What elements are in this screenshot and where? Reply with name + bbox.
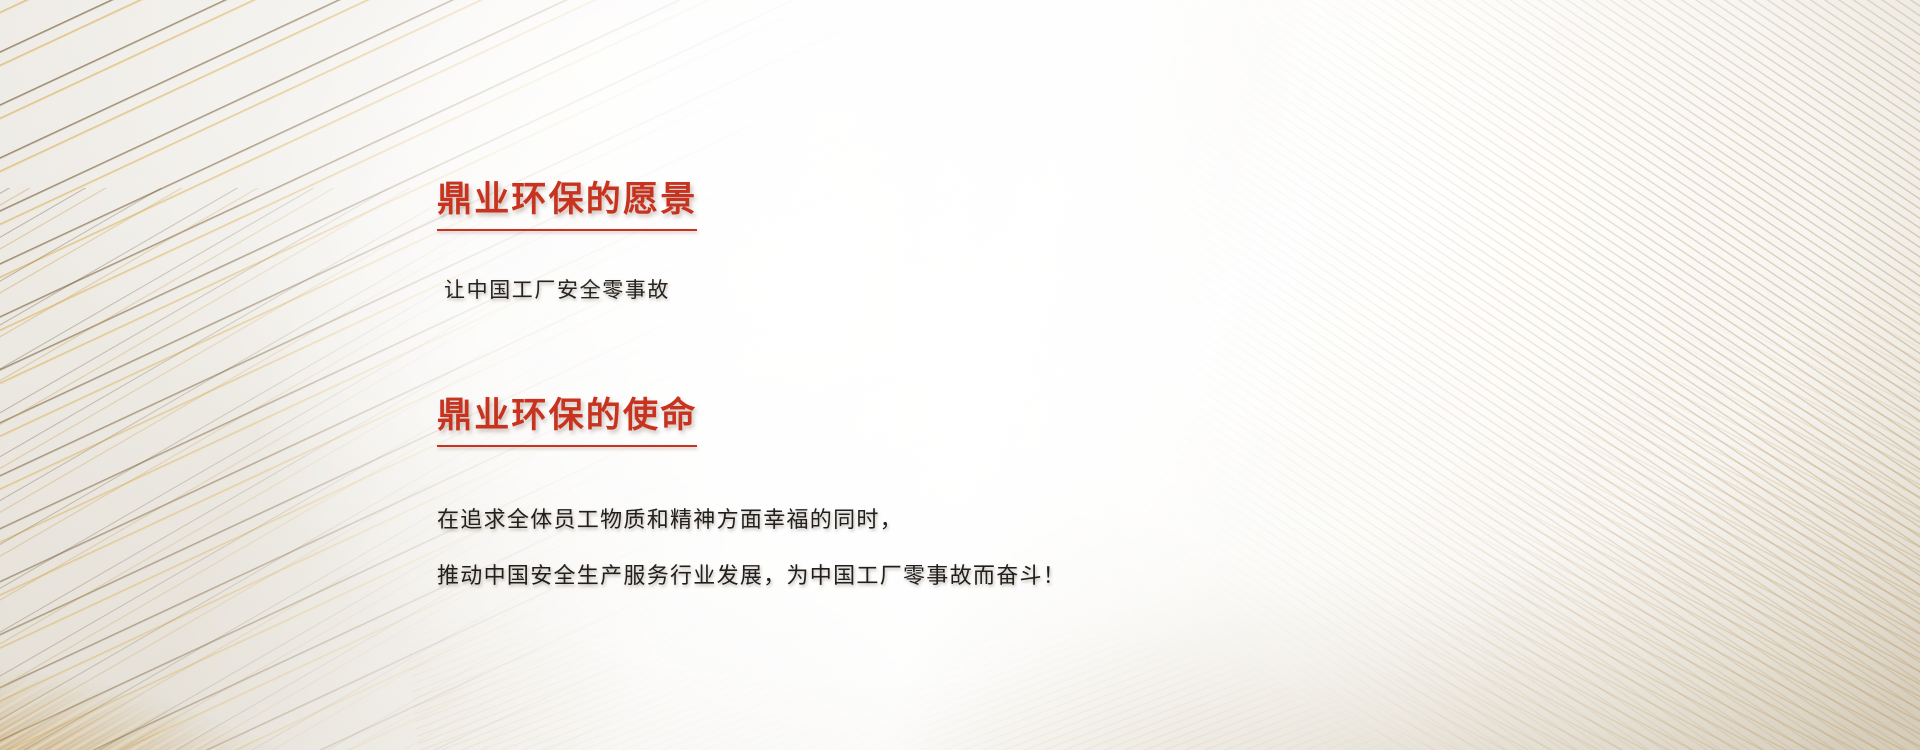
vision-heading: 鼎业环保的愿景 (437, 179, 697, 231)
mission-line: 推动中国安全生产服务行业发展，为中国工厂零事故而奋斗！ (437, 559, 1417, 593)
vision-subtitle: 让中国工厂安全零事故 (444, 275, 1417, 307)
mission-heading: 鼎业环保的使命 (437, 395, 697, 447)
vision-block: 鼎业环保的愿景 让中国工厂安全零事故 (437, 150, 1417, 306)
banner-content: 鼎业环保的愿景 让中国工厂安全零事故 鼎业环保的使命 在追求全体员工物质和精神方… (437, 150, 1417, 615)
mission-line: 在追求全体员工物质和精神方面幸福的同时， (437, 503, 1417, 537)
mission-block: 鼎业环保的使命 在追求全体员工物质和精神方面幸福的同时， 推动中国安全生产服务行… (437, 366, 1417, 593)
mission-body: 在追求全体员工物质和精神方面幸福的同时， 推动中国安全生产服务行业发展，为中国工… (437, 503, 1417, 593)
vision-mission-banner: 鼎业环保的愿景 让中国工厂安全零事故 鼎业环保的使命 在追求全体员工物质和精神方… (0, 0, 1920, 750)
